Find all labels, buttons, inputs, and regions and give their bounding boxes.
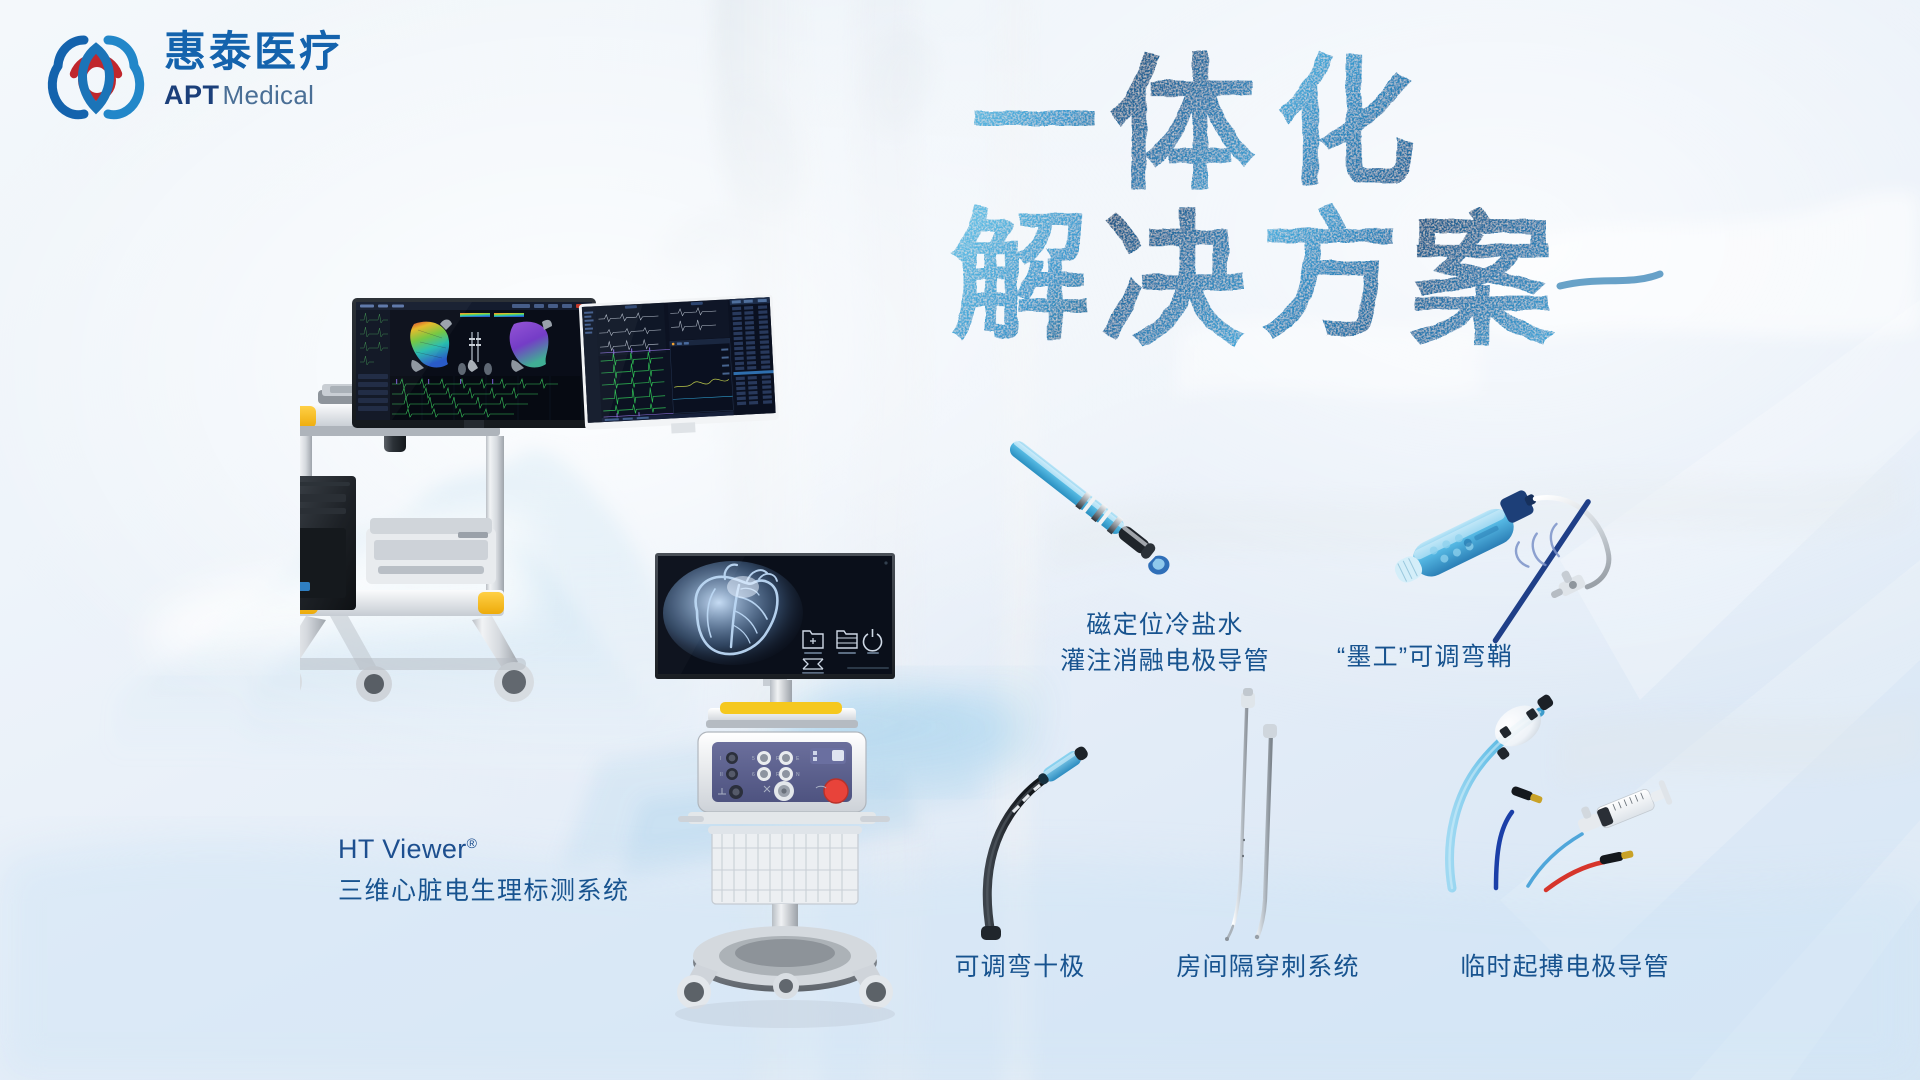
- fullscreen-label: [802, 672, 824, 674]
- label-line-2: 灌注消融电极导管: [1025, 644, 1305, 680]
- label-line-1: “墨工”可调弯鞘: [1315, 640, 1535, 676]
- label-line-1: 临时起搏电极导管: [1450, 950, 1680, 986]
- apt-medical-logo-icon: [44, 18, 148, 122]
- product-decapolar-catheter-image: [935, 720, 1095, 940]
- svg-text:R: R: [776, 772, 780, 778]
- mapping-monitor[interactable]: [352, 298, 596, 428]
- headline-calligraphy: 一 体 化 解 决 方 案: [960, 36, 1660, 356]
- product-ablation-catheter-image: [980, 430, 1200, 590]
- svg-text:5: 5: [752, 756, 755, 762]
- system-name-en: HT Viewer®: [338, 830, 630, 868]
- folder-label: [838, 652, 856, 654]
- heart-display-monitor[interactable]: [655, 553, 895, 686]
- system-name-en-text: HT Viewer: [338, 834, 467, 864]
- brand-name-en-apt: APT: [164, 80, 220, 111]
- headline-char-5: 决: [1100, 196, 1246, 367]
- svg-text:N: N: [796, 772, 800, 778]
- label-line-1: 可调弯十极: [930, 950, 1110, 986]
- headline-char-6: 方: [1260, 194, 1400, 358]
- ecg-monitor[interactable]: [576, 295, 782, 435]
- headline-char-7: 案: [1410, 197, 1555, 366]
- brand-name-en-medical: Medical: [223, 80, 315, 111]
- product-pacing-catheter-image: [1400, 690, 1700, 890]
- label-ht-viewer-system: HT Viewer® 三维心脏电生理标测系统: [338, 830, 630, 910]
- headline-char-4: 解: [950, 196, 1090, 360]
- power-label: [867, 652, 879, 654]
- rf-power-button[interactable]: [824, 779, 848, 803]
- folder-add-label: [804, 652, 822, 654]
- label-decapolar-catheter: 可调弯十极: [930, 950, 1110, 986]
- trademark-symbol: ®: [467, 835, 478, 851]
- label-pacing-catheter: 临时起搏电极导管: [1450, 950, 1680, 986]
- product-transseptal-system-image: [1185, 690, 1315, 940]
- svg-text:I: I: [720, 756, 721, 762]
- label-steerable-sheath: “墨工”可调弯鞘: [1315, 640, 1535, 676]
- label-ablation-catheter: 磁定位冷盐水 灌注消融电极导管: [1025, 608, 1305, 679]
- svg-text:R: R: [776, 756, 780, 762]
- banner-canvas: 惠泰医疗 APT Medical: [0, 0, 1920, 1080]
- rf-generator-cart: III 56 RR EN: [660, 680, 910, 1050]
- product-steerable-sheath-image: [1395, 440, 1675, 620]
- svg-text:6: 6: [752, 772, 755, 778]
- label-line-1: 磁定位冷盐水: [1025, 608, 1305, 644]
- headline-char-2: 体: [1110, 40, 1256, 211]
- headline-char-3: 化: [1276, 42, 1416, 206]
- headline-char-1: 一: [970, 49, 1098, 199]
- brand-name-cn: 惠泰医疗: [164, 29, 344, 75]
- brand-logo: 惠泰医疗 APT Medical: [44, 18, 344, 122]
- system-name-cn: 三维心脏电生理标测系统: [338, 874, 630, 910]
- label-transseptal-system: 房间隔穿刺系统: [1168, 950, 1368, 986]
- label-line-1: 房间隔穿刺系统: [1168, 950, 1368, 986]
- svg-text:II: II: [720, 772, 723, 778]
